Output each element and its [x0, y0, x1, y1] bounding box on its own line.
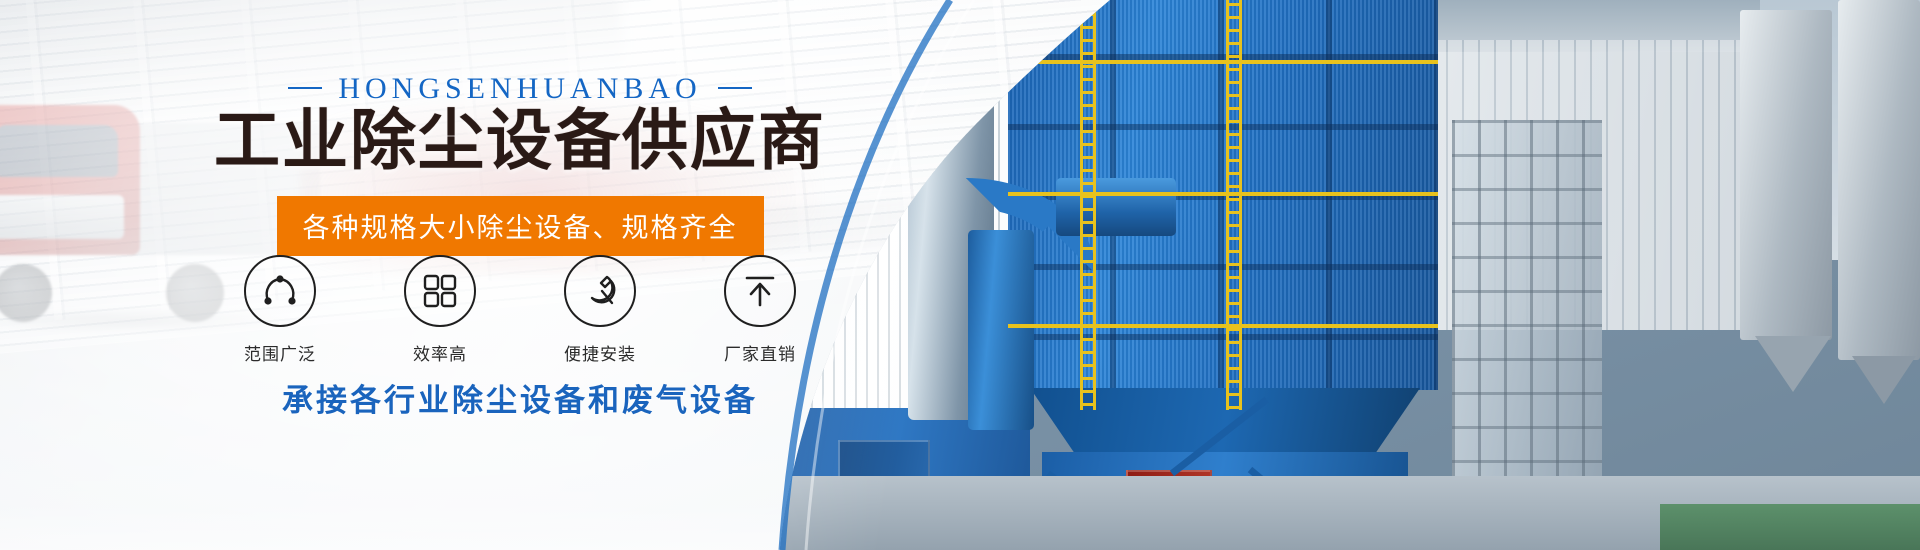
- feature-circle: [404, 255, 476, 327]
- brand-pinyin-text: HONGSENHUANBAO: [338, 72, 701, 105]
- silo-tower-2: [1838, 0, 1920, 360]
- feature-circle: [724, 255, 796, 327]
- feature-item-direct-sales[interactable]: 厂家直销: [708, 255, 812, 365]
- silo-cone-1: [1755, 336, 1831, 392]
- page-title: 工业除尘设备供应商: [0, 108, 1040, 174]
- wrench-icon: [580, 271, 620, 311]
- feature-item-installation[interactable]: 便捷安装: [548, 255, 652, 365]
- banner-tagline: 承接各行业除尘设备和废气设备: [0, 375, 1040, 420]
- grid-squares-icon: [420, 271, 460, 311]
- grass-strip: [1660, 504, 1920, 550]
- feature-item-scope[interactable]: 范围广泛: [228, 255, 332, 365]
- brand-pinyin: HONGSENHUANBAO: [0, 72, 1040, 106]
- feature-label: 便捷安装: [548, 340, 652, 365]
- feature-label: 效率高: [388, 340, 492, 365]
- arrow-up-bar-icon: [740, 271, 780, 311]
- subtitle-bar-wrap: 各种规格大小除尘设备、规格齐全: [0, 196, 1040, 256]
- feature-label: 范围广泛: [228, 340, 332, 365]
- silo-cone-2: [1852, 356, 1916, 404]
- network-nodes-icon: [259, 270, 301, 312]
- subtitle-bar: 各种规格大小除尘设备、规格齐全: [277, 196, 764, 256]
- feature-list: 范围广泛 效率高: [0, 255, 1040, 365]
- dash-right-icon: [718, 87, 752, 89]
- feature-circle: [244, 255, 316, 327]
- banner-content: HONGSENHUANBAO 工业除尘设备供应商 各种规格大小除尘设备、规格齐全…: [0, 0, 1160, 550]
- yellow-ladder-2: [1226, 0, 1242, 410]
- silo-tower-1: [1740, 10, 1832, 340]
- dash-left-icon: [288, 87, 322, 89]
- feature-circle: [564, 255, 636, 327]
- feature-label: 厂家直销: [708, 340, 812, 365]
- hero-banner: HONGSENHUANBAO 工业除尘设备供应商 各种规格大小除尘设备、规格齐全…: [0, 0, 1920, 550]
- feature-item-efficiency[interactable]: 效率高: [388, 255, 492, 365]
